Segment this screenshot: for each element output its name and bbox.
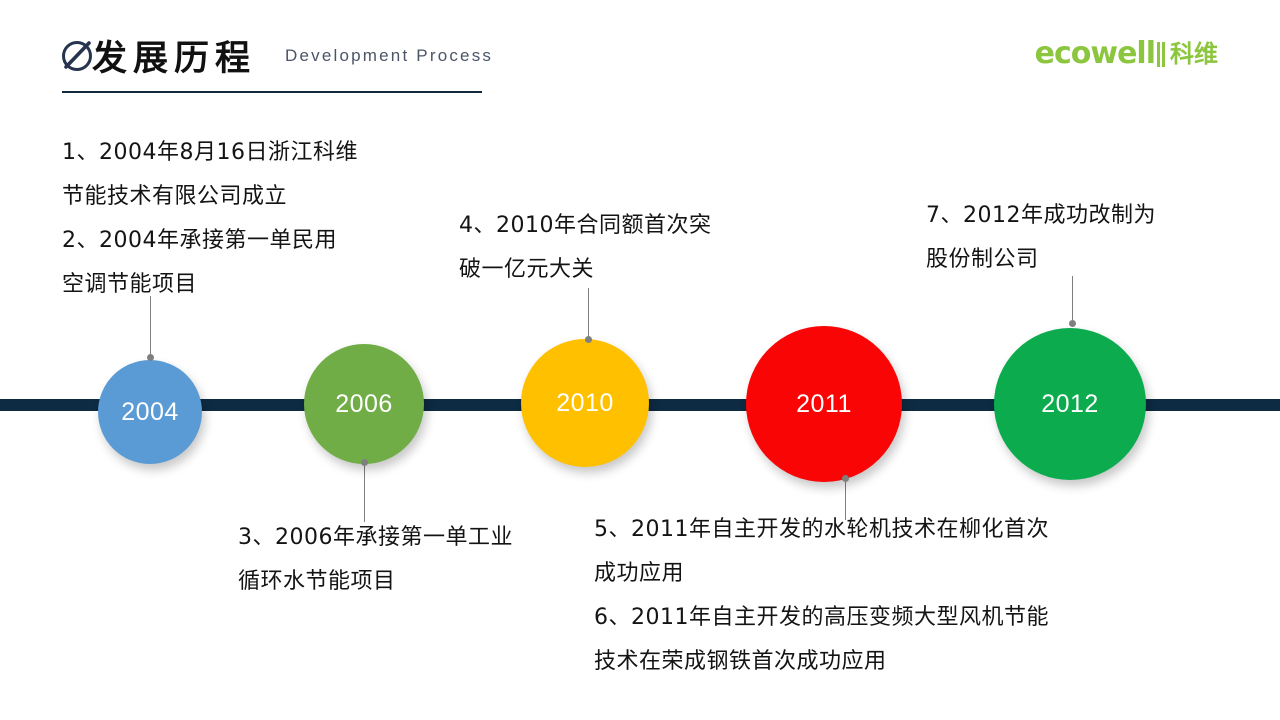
page-title: 发展历程: [92, 30, 256, 81]
note-block-2004: 1、2004年8月16日浙江科维 节能技术有限公司成立 2、2004年承接第一单…: [62, 131, 462, 307]
timeline-node-2010[interactable]: 2010: [521, 339, 649, 467]
leader-dot-2006: [361, 459, 368, 466]
timeline-node-label: 2010: [556, 391, 614, 416]
timeline-node-2012[interactable]: 2012: [994, 328, 1146, 480]
note-block-2010: 4、2010年合同额首次突 破一亿元大关: [459, 204, 779, 292]
timeline-node-label: 2011: [796, 392, 852, 417]
timeline-node-2006[interactable]: 2006: [304, 344, 424, 464]
note-block-2006: 3、2006年承接第一单工业 循环水节能项目: [238, 516, 598, 604]
timeline-node-label: 2004: [121, 400, 179, 425]
slide-canvas: 发展历程 Development Process ecowell 科维 2004…: [0, 0, 1280, 720]
timeline-node-label: 2012: [1041, 392, 1099, 417]
brand-logo: ecowell 科维: [1035, 36, 1218, 72]
leader-dot-2010: [585, 336, 592, 343]
leader-line-2004: [150, 296, 151, 358]
logo-wordmark: ecowell: [1035, 39, 1155, 69]
timeline-node-2004[interactable]: 2004: [98, 360, 202, 464]
logo-chinese-name: 科维: [1170, 42, 1218, 66]
timeline-node-label: 2006: [335, 392, 393, 417]
logo-bars-icon: [1157, 42, 1166, 67]
leader-line-2006: [364, 462, 365, 522]
leader-line-2011: [845, 478, 846, 520]
title-divider: [62, 91, 482, 93]
leader-line-2012: [1072, 276, 1073, 324]
page-subtitle: Development Process: [285, 46, 493, 66]
timeline-node-2011[interactable]: 2011: [746, 326, 902, 482]
leader-dot-2004: [147, 354, 154, 361]
note-block-2011: 5、2011年自主开发的水轮机技术在柳化首次 成功应用 6、2011年自主开发的…: [594, 508, 1174, 684]
leader-dot-2011: [842, 475, 849, 482]
leader-dot-2012: [1069, 320, 1076, 327]
leader-line-2010: [588, 288, 589, 342]
note-block-2012: 7、2012年成功改制为 股份制公司: [926, 194, 1226, 282]
